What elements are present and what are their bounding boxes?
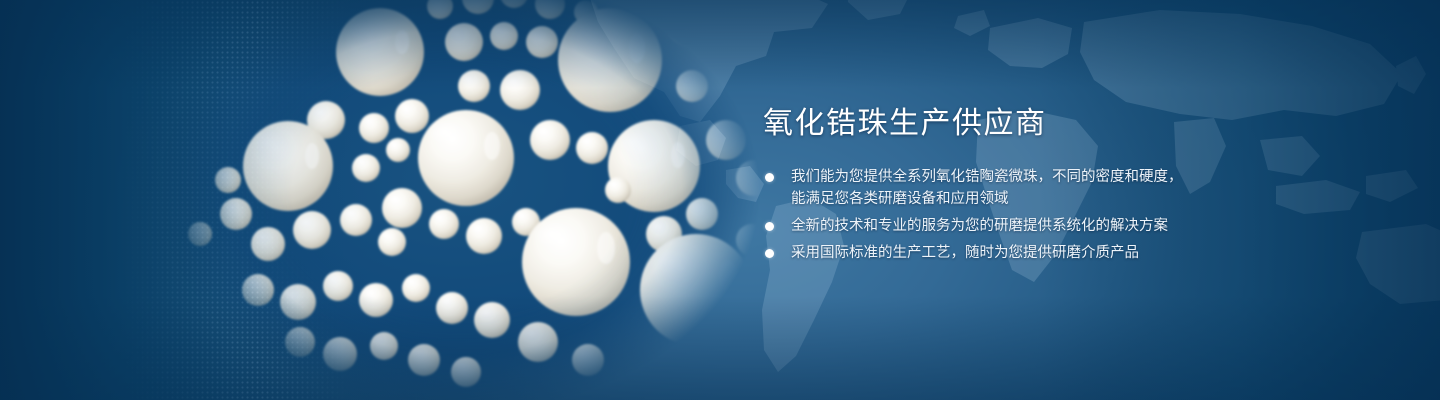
list-item: 全新的技术和专业的服务为您的研磨提供系统化的解决方案 [763, 215, 1283, 237]
hero-banner: 氧化锆珠生产供应商 我们能为您提供全系列氧化锆陶瓷微珠，不同的密度和硬度， 能满… [0, 0, 1440, 400]
list-item-line: 我们能为您提供全系列氧化锆陶瓷微珠，不同的密度和硬度， [791, 166, 1283, 188]
dot-bullet-icon [765, 173, 774, 182]
feature-list: 我们能为您提供全系列氧化锆陶瓷微珠，不同的密度和硬度， 能满足您各类研磨设备和应… [763, 166, 1283, 264]
list-item: 我们能为您提供全系列氧化锆陶瓷微珠，不同的密度和硬度， 能满足您各类研磨设备和应… [763, 166, 1283, 210]
page-title: 氧化锆珠生产供应商 [763, 106, 1283, 142]
dot-bullet-icon [765, 249, 774, 258]
list-item-line: 采用国际标准的生产工艺，随时为您提供研磨介质产品 [791, 242, 1283, 264]
dot-bullet-icon [765, 222, 774, 231]
list-item-line: 全新的技术和专业的服务为您的研磨提供系统化的解决方案 [791, 215, 1283, 237]
banner-content: 氧化锆珠生产供应商 我们能为您提供全系列氧化锆陶瓷微珠，不同的密度和硬度， 能满… [763, 106, 1283, 269]
list-item: 采用国际标准的生产工艺，随时为您提供研磨介质产品 [763, 242, 1283, 264]
list-item-line: 能满足您各类研磨设备和应用领域 [791, 188, 1283, 210]
